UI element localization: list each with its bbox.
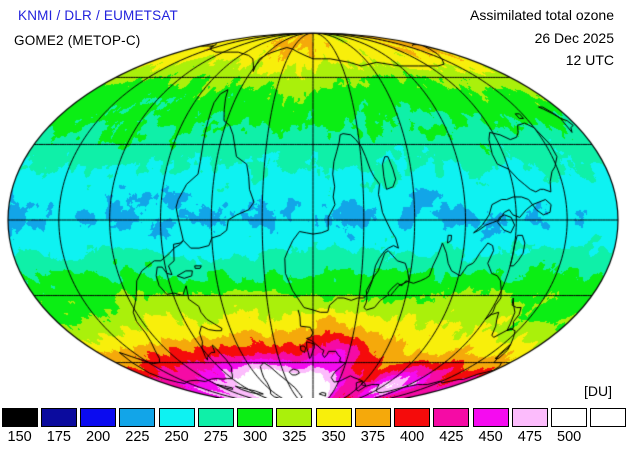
colorbar-tick-label: 450 <box>471 429 510 445</box>
colorbar-swatch <box>237 408 273 427</box>
colorbar-tick-label: 225 <box>118 429 157 445</box>
colorbar-swatch <box>80 408 116 427</box>
colorbar-cell: 375 <box>353 408 392 450</box>
colorbar-swatch <box>2 408 38 427</box>
colorbar-swatch <box>433 408 469 427</box>
colorbar-tick-label: 150 <box>0 429 39 445</box>
colorbar-swatch <box>473 408 509 427</box>
colorbar-cell: 225 <box>118 408 157 450</box>
colorbar-cell: 250 <box>157 408 196 450</box>
colorbar-tick-label: 400 <box>393 429 432 445</box>
mollweide-map-canvas <box>0 18 628 398</box>
colorbar-swatch <box>198 408 234 427</box>
colorbar-cell: 475 <box>510 408 549 450</box>
colorbar-cell: 425 <box>432 408 471 450</box>
colorbar-swatch <box>551 408 587 427</box>
colorbar-tick-label: 200 <box>79 429 118 445</box>
colorbar-cell: 175 <box>39 408 78 450</box>
colorbar-cell: 200 <box>79 408 118 450</box>
colorbar-swatch <box>590 408 626 427</box>
colorbar-tick-label: 300 <box>236 429 275 445</box>
colorbar: 1501752002252502753003253503754004254504… <box>0 408 628 450</box>
colorbar-swatch <box>355 408 391 427</box>
colorbar-cell: 500 <box>550 408 589 450</box>
colorbar-swatch <box>316 408 352 427</box>
colorbar-cell: 350 <box>314 408 353 450</box>
colorbar-tick-label: 475 <box>510 429 549 445</box>
colorbar-swatch <box>394 408 430 427</box>
colorbar-tick-label: 250 <box>157 429 196 445</box>
ozone-map-page: KNMI / DLR / EUMETSAT GOME2 (METOP-C) As… <box>0 0 628 452</box>
colorbar-swatch <box>512 408 548 427</box>
colorbar-cell: 150 <box>0 408 39 450</box>
colorbar-unit-label: [DU] <box>584 383 612 399</box>
colorbar-cell: 275 <box>196 408 235 450</box>
colorbar-swatch <box>41 408 77 427</box>
colorbar-swatch <box>276 408 312 427</box>
colorbar-cell: 325 <box>275 408 314 450</box>
colorbar-swatch <box>159 408 195 427</box>
colorbar-tick-label: 500 <box>550 429 589 445</box>
colorbar-swatch <box>119 408 155 427</box>
colorbar-tick-label: 375 <box>353 429 392 445</box>
ozone-map <box>0 18 628 398</box>
colorbar-tick-label: 325 <box>275 429 314 445</box>
colorbar-cell: 300 <box>236 408 275 450</box>
colorbar-tick-label: 175 <box>39 429 78 445</box>
colorbar-cell: 450 <box>471 408 510 450</box>
colorbar-tick-label: 425 <box>432 429 471 445</box>
colorbar-tick-label: 275 <box>196 429 235 445</box>
colorbar-cell <box>589 408 628 450</box>
colorbar-cell: 400 <box>393 408 432 450</box>
colorbar-tick-label: 350 <box>314 429 353 445</box>
